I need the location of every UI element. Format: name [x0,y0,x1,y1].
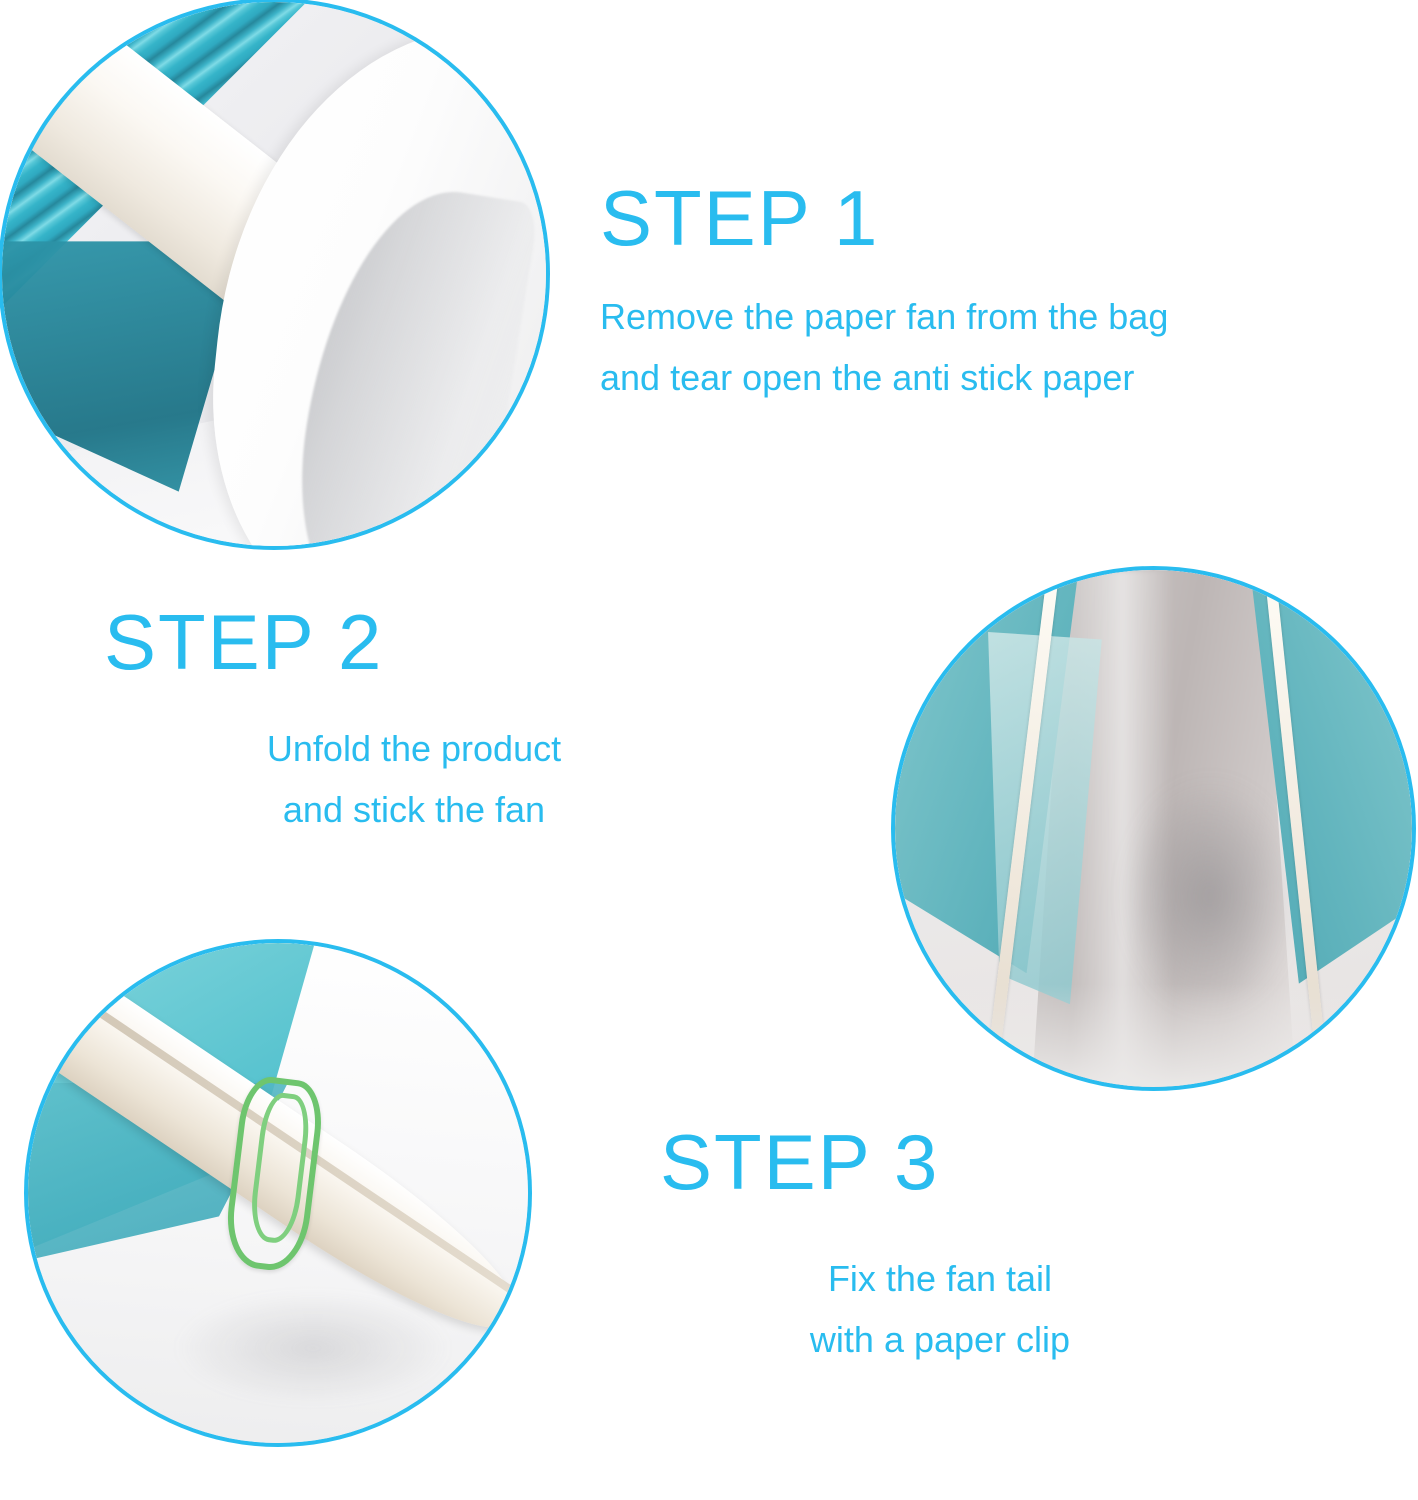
floor-surface [895,984,1412,1087]
step-1-photo-content [2,2,546,546]
step-3-line-1: Fix the fan tail [640,1248,1240,1309]
center-shadow [1122,777,1298,1015]
step-2-text-block: STEP 2 Unfold the product and stick the … [104,602,724,840]
step-2-line-2: and stick the fan [104,779,724,840]
step-1-line-2: and tear open the anti stick paper [600,347,1168,408]
instruction-infographic: STEP 1 Remove the paper fan from the bag… [0,0,1418,1500]
step-2-title: STEP 2 [104,602,724,684]
step-3-title: STEP 3 [660,1122,1240,1204]
step-3-text-block: STEP 3 Fix the fan tail with a paper cli… [640,1122,1240,1370]
step-3-line-2: with a paper clip [640,1309,1240,1370]
step-2-photo [895,570,1412,1087]
step-3-photo-content [28,943,528,1443]
tail-shadow [178,1293,448,1403]
step-2-photo-content [895,570,1412,1087]
step-1-title: STEP 1 [600,178,1168,260]
step-3-photo [28,943,528,1443]
step-1-text-block: STEP 1 Remove the paper fan from the bag… [600,178,1168,408]
step-1-photo [2,2,546,546]
step-1-line-1: Remove the paper fan from the bag [600,286,1168,347]
step-2-line-1: Unfold the product [104,718,724,779]
